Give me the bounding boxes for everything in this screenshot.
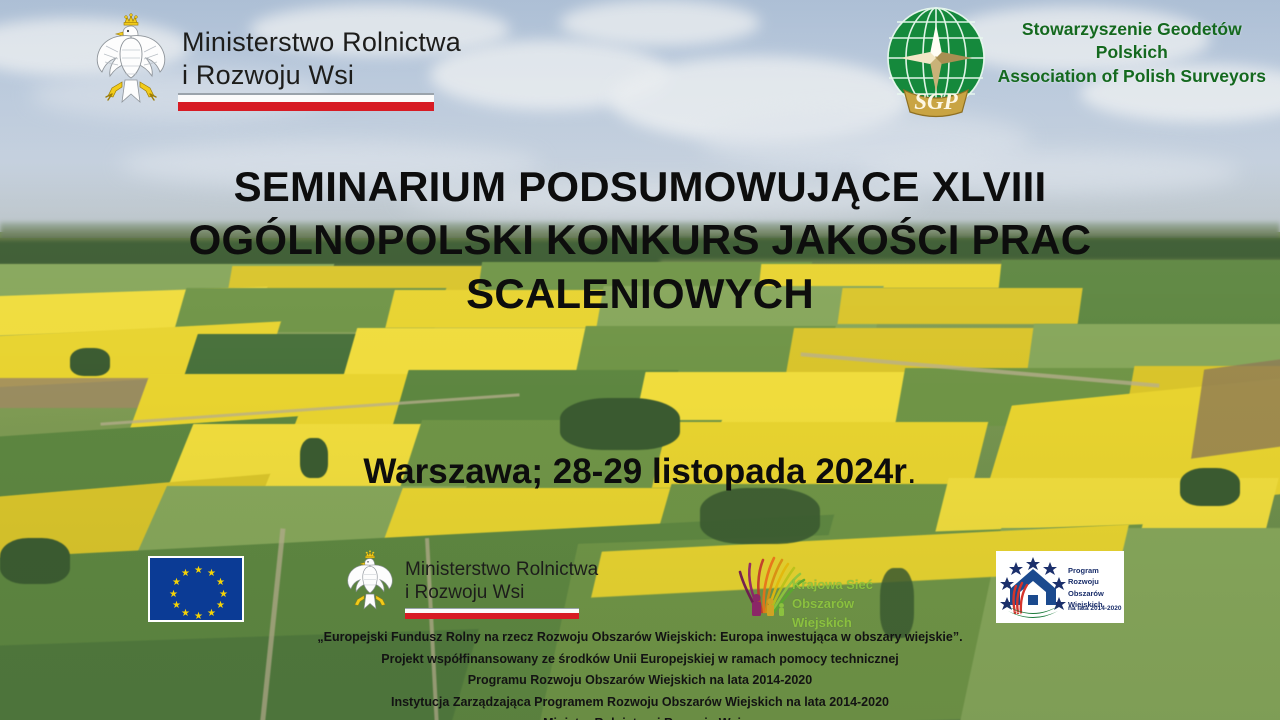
title-line-1: SEMINARIUM PODSUMOWUJĄCE XLVIII bbox=[140, 160, 1140, 213]
event-date-period: . bbox=[907, 452, 917, 491]
ksow-fan-logo-icon: Krajowa Sieć Obszarów Wiejskich bbox=[730, 550, 916, 622]
sgp-globe-logo-icon: SGP bbox=[884, 6, 988, 123]
footer-ministry-line-1: Ministerstwo Rolnictwa bbox=[405, 558, 598, 581]
prow-years-text: na lata 2014-2020 bbox=[1068, 605, 1121, 612]
conference-poster: Ministerstwo Rolnictwa i Rozwoju Wsi bbox=[0, 0, 1280, 720]
footer-ministry-line-2: i Rozwoju Wsi bbox=[405, 581, 598, 604]
sgp-line-2: Polskich bbox=[998, 41, 1266, 64]
ministry-line-1: Ministerstwo Rolnictwa bbox=[182, 26, 461, 59]
funding-logo-row: ★ ★ ★ ★ ★ ★ ★ ★ ★ ★ ★ ★ bbox=[0, 548, 1280, 630]
polish-eagle-emblem-icon bbox=[92, 10, 170, 110]
prow-line-2: Rozwoju bbox=[1068, 576, 1104, 587]
disclaimer-line-5: - Minister Rolnictwa i Rozwoju Wsi. bbox=[190, 713, 1090, 720]
prow-name-block: Program Rozwoju Obszarów Wiejskich bbox=[1068, 565, 1104, 611]
disclaimer-line-2: Projekt współfinansowany ze środków Unii… bbox=[190, 649, 1090, 671]
sgp-logo-text: SGP bbox=[914, 89, 958, 114]
footer-ministry-logo: Ministerstwo Rolnictwa i Rozwoju Wsi bbox=[344, 548, 598, 614]
event-date-text: Warszawa; 28-29 listopada 2024r bbox=[363, 452, 906, 491]
disclaimer-line-4: Instytucja Zarządzająca Programem Rozwoj… bbox=[190, 692, 1090, 714]
funding-disclaimer-text: „Europejski Fundusz Rolny na rzecz Rozwo… bbox=[190, 627, 1090, 720]
ministry-name-block: Ministerstwo Rolnictwa i Rozwoju Wsi bbox=[182, 10, 461, 92]
prow-line-1: Program bbox=[1068, 565, 1104, 576]
ksow-name-block: Krajowa Sieć Obszarów Wiejskich bbox=[792, 576, 916, 633]
polish-flag-bar-icon bbox=[405, 608, 579, 619]
polish-eagle-emblem-icon bbox=[344, 548, 396, 614]
ksow-line-1: Krajowa Sieć bbox=[792, 576, 916, 595]
footer-ministry-name-block: Ministerstwo Rolnictwa i Rozwoju Wsi bbox=[405, 548, 598, 604]
prow-house-field-logo-icon: Program Rozwoju Obszarów Wiejskich na la… bbox=[996, 551, 1124, 623]
sgp-line-1: Stowarzyszenie Geodetów bbox=[998, 18, 1266, 41]
disclaimer-line-3: Programu Rozwoju Obszarów Wiejskich na l… bbox=[190, 670, 1090, 692]
sgp-name-block: Stowarzyszenie Geodetów Polskich Associa… bbox=[998, 6, 1266, 88]
polish-flag-bar-icon bbox=[178, 93, 434, 111]
ministry-line-2: i Rozwoju Wsi bbox=[182, 59, 461, 92]
title-line-2: OGÓLNOPOLSKI KONKURS JAKOŚCI PRAC bbox=[140, 213, 1140, 266]
disclaimer-line-1: „Europejski Fundusz Rolny na rzecz Rozwo… bbox=[190, 627, 1090, 649]
page-title: SEMINARIUM PODSUMOWUJĄCE XLVIII OGÓLNOPO… bbox=[140, 160, 1140, 320]
header-sgp-logo: SGP Stowarzyszenie Geodetów Polskich Ass… bbox=[884, 6, 1266, 123]
prow-line-3: Obszarów bbox=[1068, 588, 1104, 599]
sgp-line-3: Association of Polish Surveyors bbox=[998, 65, 1266, 88]
event-date-location: Warszawa; 28-29 listopada 2024r. bbox=[190, 452, 1090, 492]
title-line-3: SCALENIOWYCH bbox=[140, 267, 1140, 320]
european-union-flag-icon: ★ ★ ★ ★ ★ ★ ★ ★ ★ ★ ★ ★ bbox=[148, 556, 244, 622]
